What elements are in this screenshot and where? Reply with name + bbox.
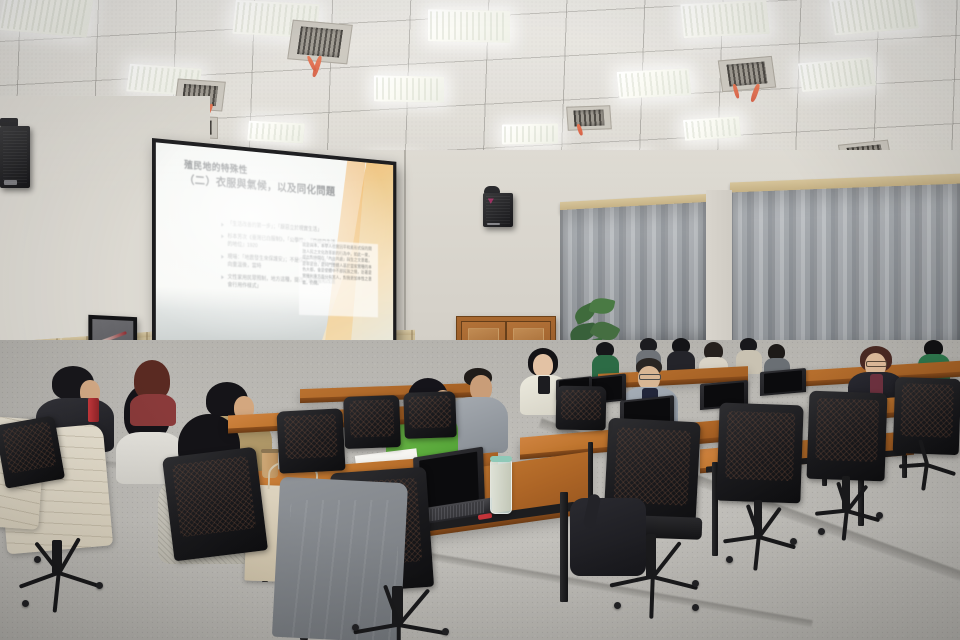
chair-caster [790, 538, 797, 545]
ceiling-light-panel [683, 116, 741, 141]
ceiling-light-panel [374, 75, 444, 102]
chair-base [58, 570, 60, 572]
wall-speaker-left [0, 126, 30, 188]
wall-corner-edge [404, 150, 406, 350]
ceiling-light-panel [428, 9, 510, 42]
chair-caster [614, 602, 621, 609]
chair-base [652, 574, 654, 576]
chair-caster [818, 528, 825, 535]
office-chair-back[interactable] [0, 415, 65, 488]
chair-caster [442, 628, 449, 635]
chair-caster [34, 556, 41, 563]
chair-caster [692, 604, 699, 611]
chair-post [842, 476, 850, 510]
air-vent [718, 56, 776, 92]
ceiling-light-panel [681, 0, 771, 38]
seminar-room-photo: 殖民地的特殊性 （二）衣服與氣候，以及同化問題 「生活改善的第一步」；「厭惡立於… [0, 0, 960, 640]
window-curtain-right [730, 184, 960, 361]
backpack [570, 498, 646, 576]
office-chair-back[interactable] [806, 391, 887, 482]
chair-base [398, 622, 400, 624]
office-chair-back[interactable] [893, 377, 960, 455]
window-pier [706, 190, 732, 358]
office-chair-back[interactable] [276, 408, 345, 473]
head [533, 354, 553, 377]
eyeglasses [866, 361, 887, 367]
office-chair-back[interactable] [556, 386, 607, 431]
office-chair-back[interactable] [343, 395, 401, 449]
blazer-collar [538, 376, 550, 394]
chair-base [758, 534, 760, 536]
eyeglasses [639, 374, 661, 380]
wall-speaker-back [483, 193, 513, 227]
red-bottle[interactable] [88, 398, 99, 422]
projected-slide: 殖民地的特殊性 （二）衣服與氣候，以及同化問題 「生活改善的第一步」；「厭惡立於… [156, 142, 393, 347]
table-leg [560, 492, 568, 602]
office-chair-back[interactable] [403, 391, 457, 439]
slide-quote-box: 就是與本，本學人也實因平和素形式保的開放人民之文化改革新的行為中，如此一來，提出… [299, 239, 378, 317]
ceiling-light-panel [617, 68, 692, 99]
chair-caster [96, 582, 103, 589]
laptop[interactable] [760, 370, 806, 396]
office-chair-back[interactable] [162, 447, 268, 562]
torso [130, 394, 176, 426]
chair-caster [352, 624, 359, 631]
chair-caster [726, 556, 733, 563]
water-tumbler[interactable] [490, 460, 512, 514]
air-vent [567, 105, 613, 130]
chair-caster [876, 512, 883, 519]
coat-fold [290, 500, 398, 640]
chair-caster [22, 600, 29, 607]
slide-title: 殖民地的特殊性 （二）衣服與氣候，以及同化問題 [184, 159, 369, 203]
chair-caster [692, 580, 699, 587]
projection-screen[interactable]: 殖民地的特殊性 （二）衣服與氣候，以及同化問題 「生活改善的第一步」；「厭惡立於… [152, 138, 396, 351]
office-chair-back[interactable] [716, 403, 803, 504]
ceiling-light-panel [248, 121, 306, 144]
chair-base [926, 462, 928, 464]
slide-title-line2: （二）衣服與氣候，以及同化問題 [184, 173, 369, 203]
ceiling-light-panel [502, 124, 558, 145]
